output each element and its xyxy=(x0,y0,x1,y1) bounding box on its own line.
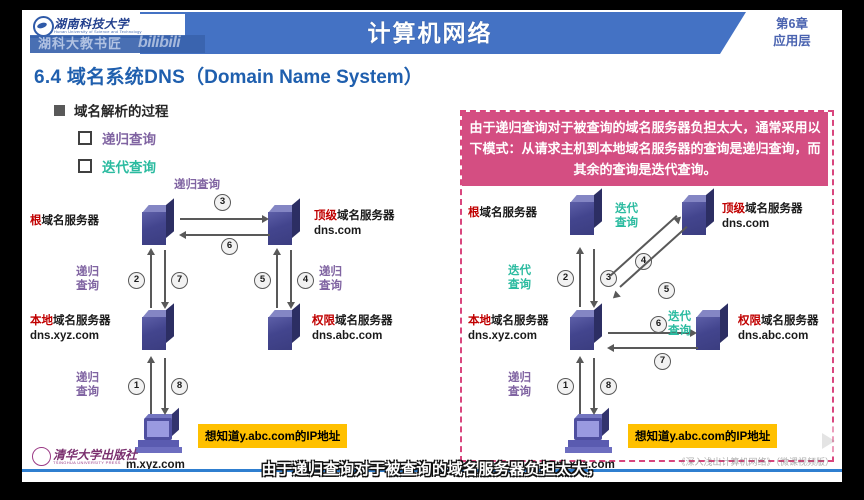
arrow-2-head xyxy=(576,247,584,254)
step-6: 6 xyxy=(221,238,238,255)
right-diagram: 根域名服务器 顶级域名服务器 dns.com 迭代 查询 本地域名服务器 dns… xyxy=(460,10,832,480)
server-icon-tld xyxy=(682,195,714,235)
step-5: 5 xyxy=(254,272,271,289)
step-2: 2 xyxy=(557,270,574,287)
arrow-3-head xyxy=(262,215,269,223)
arrow-6-head xyxy=(690,329,697,337)
domain-tld: dns.com xyxy=(722,217,803,232)
step-1: 1 xyxy=(128,378,145,395)
arrow-6-head xyxy=(179,231,186,239)
domain-auth: dns.abc.com xyxy=(312,329,393,344)
video-subtitle: 由于递归查询对于被查询的域名服务器负担太大， xyxy=(0,458,864,479)
domain-local: dns.xyz.com xyxy=(468,329,549,344)
arrow-8-line xyxy=(164,358,166,410)
arrow-8-line xyxy=(593,358,595,410)
right-query-label-mid-left: 迭代 查询 xyxy=(508,264,531,292)
domain-auth: dns.abc.com xyxy=(738,329,819,344)
label-tld-server: 顶级域名服务器 dns.com xyxy=(314,209,395,239)
label-root-server: 根域名服务器 xyxy=(30,214,99,229)
screen: 计算机网络 第6章 应用层 湖南科技大学 Hunan University of… xyxy=(0,0,864,500)
server-icon-authoritative xyxy=(268,310,300,350)
step-2: 2 xyxy=(128,272,145,289)
arrow-1-head xyxy=(147,356,155,363)
right-callout: 想知道y.abc.com的IP地址 xyxy=(628,424,777,448)
arrow-3-line xyxy=(180,218,264,220)
server-icon-local xyxy=(570,310,602,350)
left-query-label-bottom: 递归 查询 xyxy=(76,371,99,399)
arrow-8-head xyxy=(590,408,598,415)
arrow-3-head xyxy=(590,301,598,308)
step-8: 8 xyxy=(600,378,617,395)
step-4: 4 xyxy=(297,272,314,289)
arrow-1-line xyxy=(579,362,581,414)
arrow-7-line xyxy=(164,250,166,304)
right-query-label-mid-right: 迭代 查询 xyxy=(668,310,691,338)
step-3: 3 xyxy=(214,194,231,211)
step-6: 6 xyxy=(650,316,667,333)
left-query-label-top: 递归查询 xyxy=(174,178,220,192)
right-query-label-top: 迭代 查询 xyxy=(615,202,638,230)
step-7: 7 xyxy=(654,353,671,370)
server-icon-root xyxy=(570,195,602,235)
label-auth-server: 权限域名服务器 dns.abc.com xyxy=(738,314,819,344)
step-1: 1 xyxy=(557,378,574,395)
server-icon-authoritative xyxy=(696,310,728,350)
label-auth-server: 权限域名服务器 dns.abc.com xyxy=(312,314,393,344)
domain-local: dns.xyz.com xyxy=(30,329,111,344)
left-callout: 想知道y.abc.com的IP地址 xyxy=(198,424,347,448)
arrow-7-line xyxy=(614,347,698,349)
label-root-server: 根域名服务器 xyxy=(468,206,537,221)
arrow-7-head xyxy=(161,302,169,309)
arrow-3-line xyxy=(593,249,595,303)
server-icon-tld xyxy=(268,205,300,245)
left-query-label-mid-left: 递归 查询 xyxy=(76,265,99,293)
arrow-2-line xyxy=(150,254,152,308)
arrow-5-head xyxy=(610,291,621,302)
label-local-server: 本地域名服务器 dns.xyz.com xyxy=(30,314,111,344)
step-5: 5 xyxy=(658,282,675,299)
server-icon-local xyxy=(142,310,174,350)
left-diagram: 递归查询 根域名服务器 顶级域名服务器 dns.com 3 6 本地域名服务器 … xyxy=(22,10,452,480)
arrow-5-line xyxy=(276,254,278,308)
bilibili-player-watermark-icon xyxy=(802,415,842,457)
server-icon-root xyxy=(142,205,174,245)
arrow-7-head xyxy=(607,344,614,352)
arrow-1-line xyxy=(150,362,152,414)
arrow-8-head xyxy=(161,408,169,415)
domain-tld: dns.com xyxy=(314,224,395,239)
label-local-server: 本地域名服务器 dns.xyz.com xyxy=(468,314,549,344)
arrow-4-head xyxy=(287,302,295,309)
arrow-5-head xyxy=(273,248,281,255)
arrow-6-line xyxy=(186,234,270,236)
arrow-2-line xyxy=(579,253,581,307)
arrow-1-head xyxy=(576,356,584,363)
label-tld-server: 顶级域名服务器 dns.com xyxy=(722,202,803,232)
left-query-label-mid-right: 递归 查询 xyxy=(319,265,342,293)
step-7: 7 xyxy=(171,272,188,289)
arrow-2-head xyxy=(147,248,155,255)
right-query-label-bottom: 递归 查询 xyxy=(508,371,531,399)
host-computer-icon xyxy=(568,418,614,456)
step-8: 8 xyxy=(171,378,188,395)
slide-canvas: 计算机网络 第6章 应用层 湖南科技大学 Hunan University of… xyxy=(22,10,842,482)
arrow-4-line xyxy=(290,250,292,304)
